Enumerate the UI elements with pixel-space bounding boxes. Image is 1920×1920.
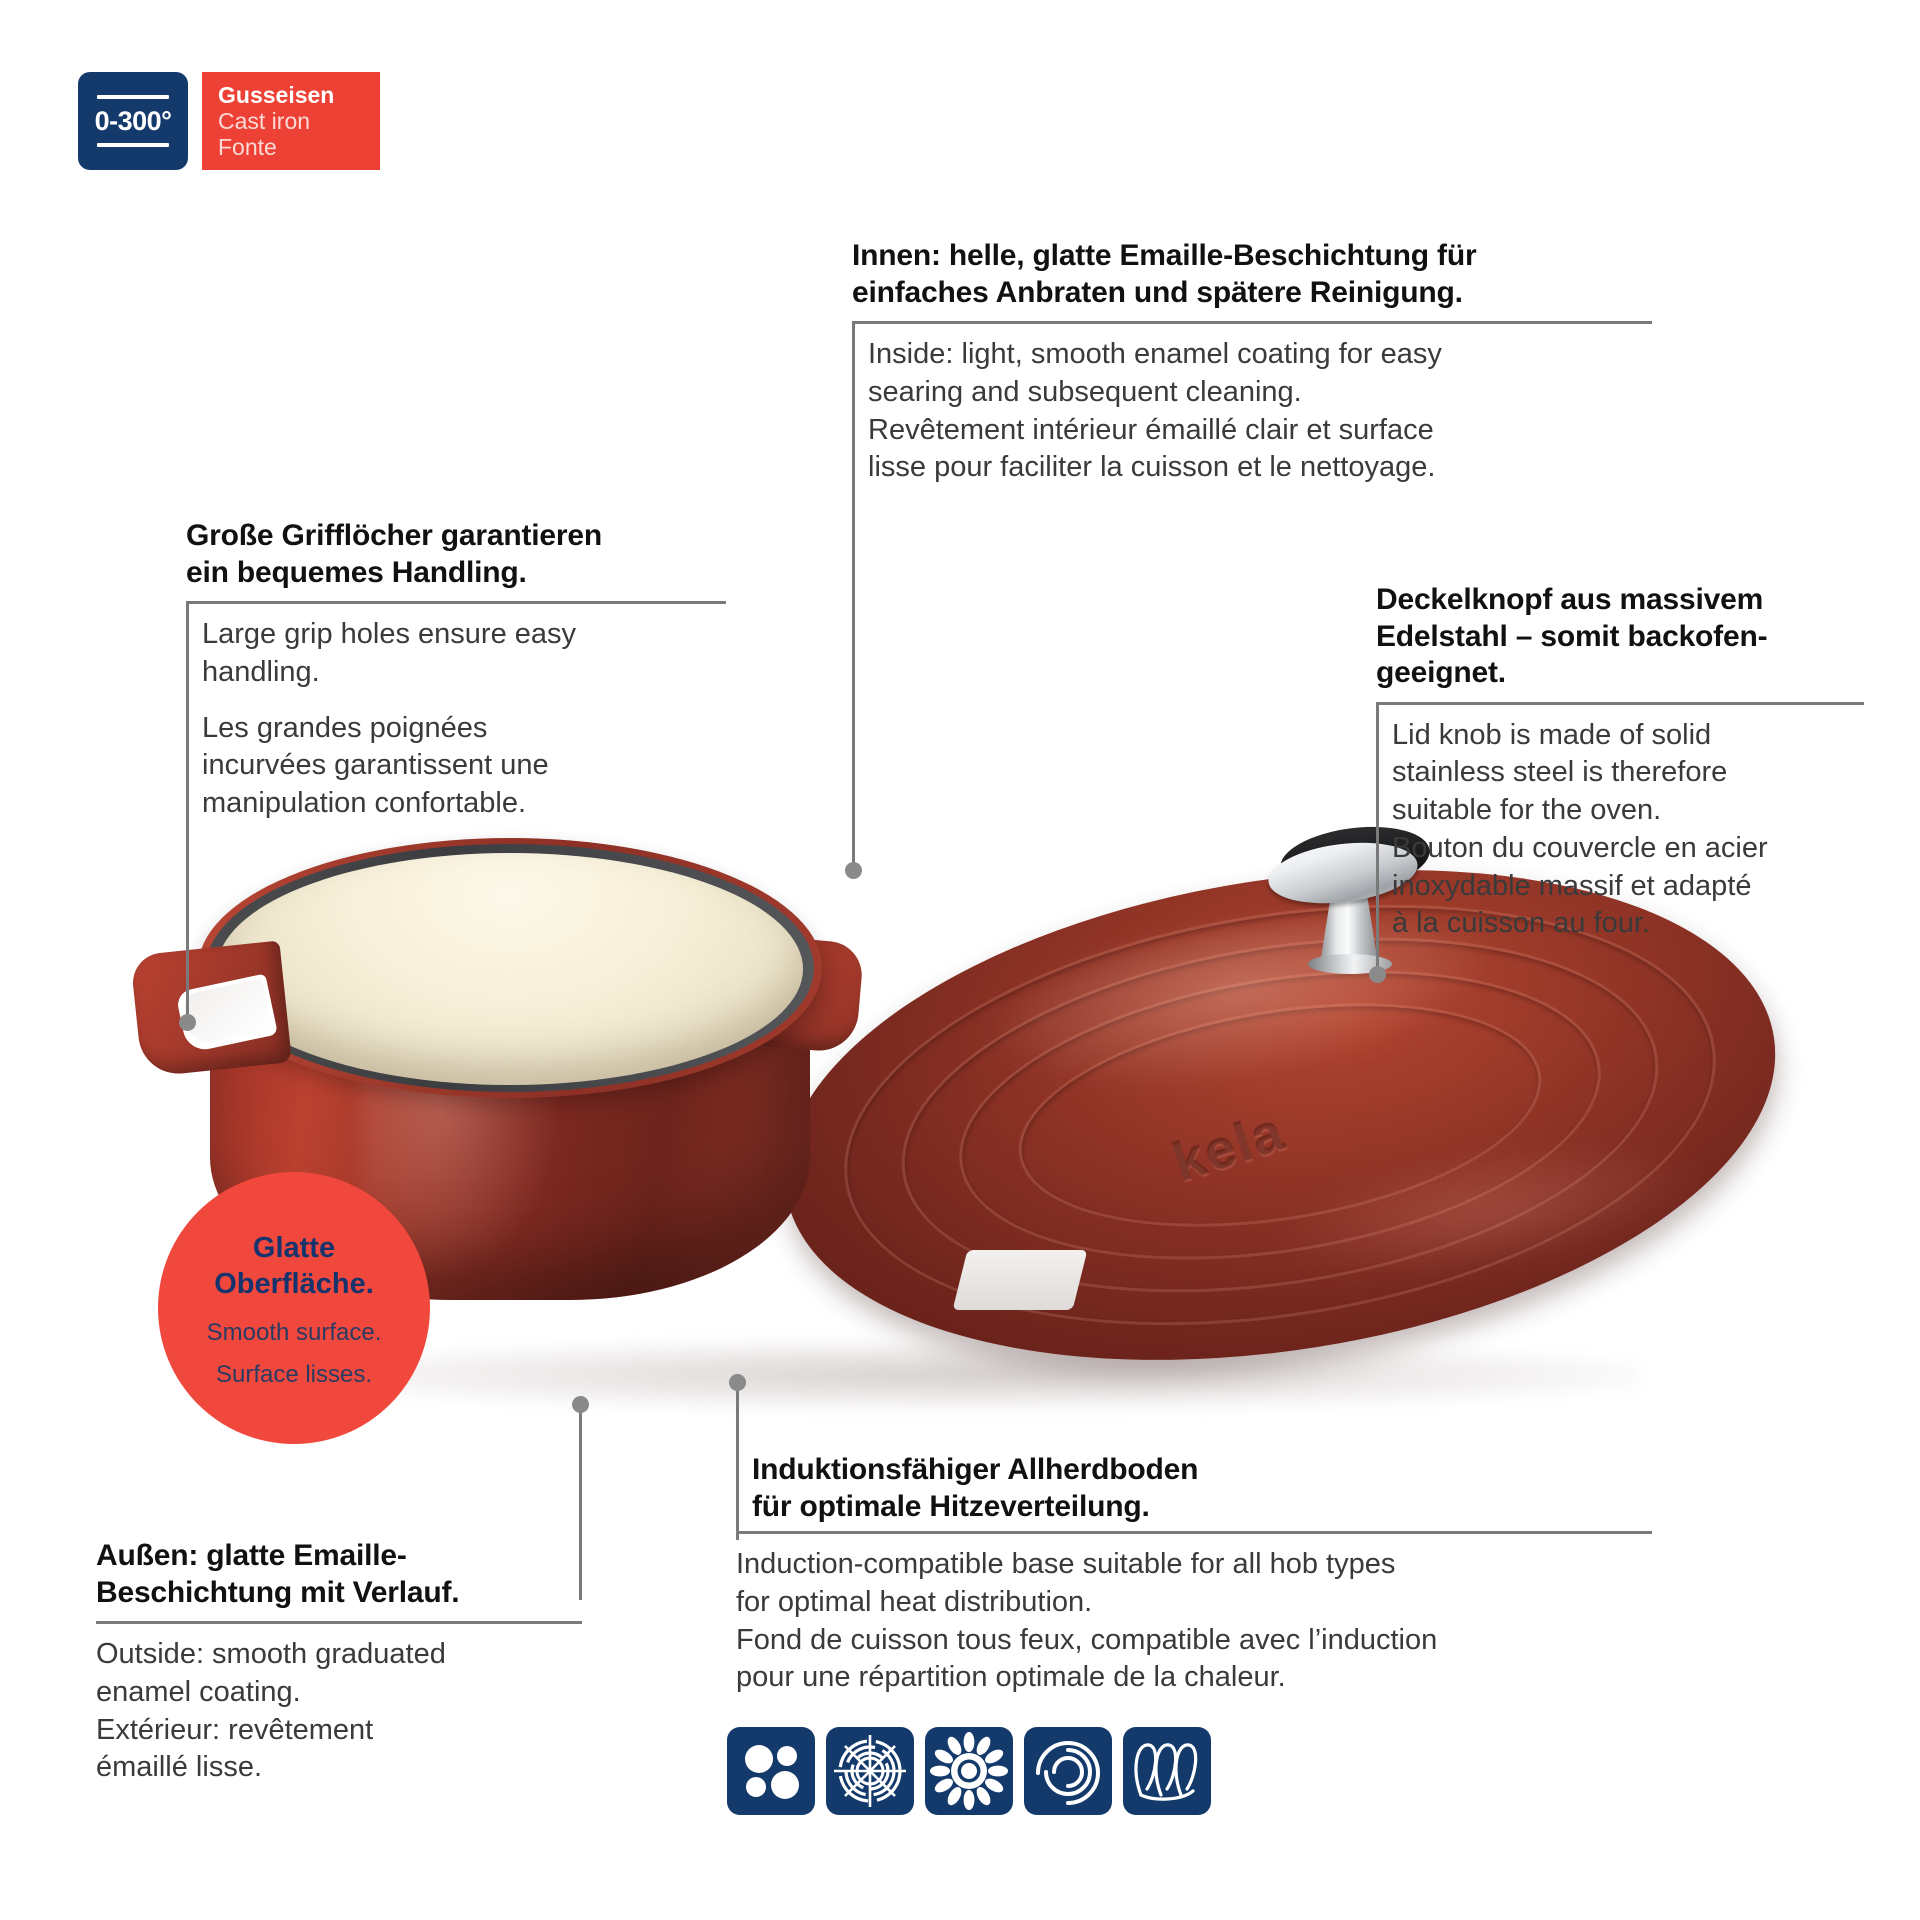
callout-body-en: Lid knob is made of solid stainless stee…	[1376, 705, 1864, 830]
callout-body-fr: Bouton du couvercle en acier inoxydable …	[1376, 830, 1864, 943]
leader-line-induction	[736, 1382, 739, 1456]
callout-body-fr: Les grandes poignées incurvées garantiss…	[186, 692, 726, 823]
callout-body-en: Large grip holes ensure easy handling.	[186, 604, 726, 691]
electric-hob-icon	[1024, 1727, 1112, 1815]
leader-line-grip	[186, 824, 189, 1020]
callout-lid-knob: Deckelknopf aus massivem Edelstahl – som…	[1376, 582, 1864, 943]
infographic-page: 0-300° Gusseisen Cast iron Fonte kela	[0, 0, 1920, 1920]
gas-hob-icon	[727, 1727, 815, 1815]
callout-body-fr: Extérieur: revêtement émaillé lisse.	[96, 1712, 582, 1787]
pot-inner-enamel	[217, 853, 803, 1085]
leader-dot-induction	[729, 1374, 746, 1391]
callout-heading: Deckelknopf aus massivem Edelstahl – som…	[1376, 582, 1864, 692]
callout-body-fr: Revêtement intérieur émaillé clair et su…	[852, 412, 1652, 487]
leader-line-outside	[579, 1404, 582, 1600]
callout-heading: Große Grifflöcher garantieren ein bequem…	[186, 518, 726, 591]
badge-rule-bottom	[97, 143, 169, 147]
leader-dot-grip	[179, 1014, 196, 1031]
callout-heading: Außen: glatte Emaille- Beschichtung mit …	[96, 1538, 582, 1611]
callout-vline	[736, 1452, 739, 1540]
leader-dot-outside	[572, 1396, 589, 1413]
induction-hob-icon	[1123, 1727, 1211, 1815]
leader-dot-knob	[1369, 966, 1386, 983]
temperature-badge: 0-300°	[78, 72, 188, 170]
pot-handle-left	[130, 940, 292, 1077]
material-badge: Gusseisen Cast iron Fonte	[202, 72, 380, 170]
callout-heading: Innen: helle, glatte Emaille-Beschichtun…	[852, 238, 1652, 311]
leader-line-inside	[852, 418, 855, 868]
ceramic-hob-icon	[826, 1727, 914, 1815]
hob-compatibility-icons	[727, 1727, 1211, 1815]
callout-body-en: Induction-compatible base suitable for a…	[736, 1534, 1652, 1621]
temperature-value: 0-300°	[95, 99, 172, 143]
callout-body-fr: Fond de cuisson tous feux, compatible av…	[736, 1622, 1652, 1697]
circle-badge-en: Smooth surface.	[207, 1319, 382, 1347]
lid-support	[953, 1250, 1088, 1310]
callout-grip-holes: Große Grifflöcher garantieren ein bequem…	[186, 518, 726, 823]
halogen-hob-icon	[925, 1727, 1013, 1815]
callout-body-en: Inside: light, smooth enamel coating for…	[852, 324, 1652, 411]
material-label-de: Gusseisen	[218, 83, 368, 109]
callout-vline	[186, 604, 189, 830]
material-label-en: Cast iron	[218, 109, 368, 135]
callout-inside-enamel: Innen: helle, glatte Emaille-Beschichtun…	[852, 238, 1652, 487]
leader-line-knob	[1376, 844, 1379, 972]
badge-row: 0-300° Gusseisen Cast iron Fonte	[78, 72, 380, 170]
callout-outside-enamel: Außen: glatte Emaille- Beschichtung mit …	[96, 1538, 582, 1787]
circle-badge-fr: Surface lisses.	[216, 1361, 372, 1389]
callout-heading: Induktionsfähiger Allherdboden für optim…	[736, 1452, 1652, 1525]
material-label-fr: Fonte	[218, 135, 368, 161]
circle-badge-heading: Glatte Oberfläche.	[214, 1231, 374, 1302]
smooth-surface-badge: Glatte Oberfläche. Smooth surface. Surfa…	[158, 1172, 430, 1444]
leader-dot-inside	[845, 862, 862, 879]
callout-induction-base: Induktionsfähiger Allherdboden für optim…	[736, 1452, 1652, 1697]
callout-body-en: Outside: smooth graduated enamel coating…	[96, 1624, 582, 1711]
